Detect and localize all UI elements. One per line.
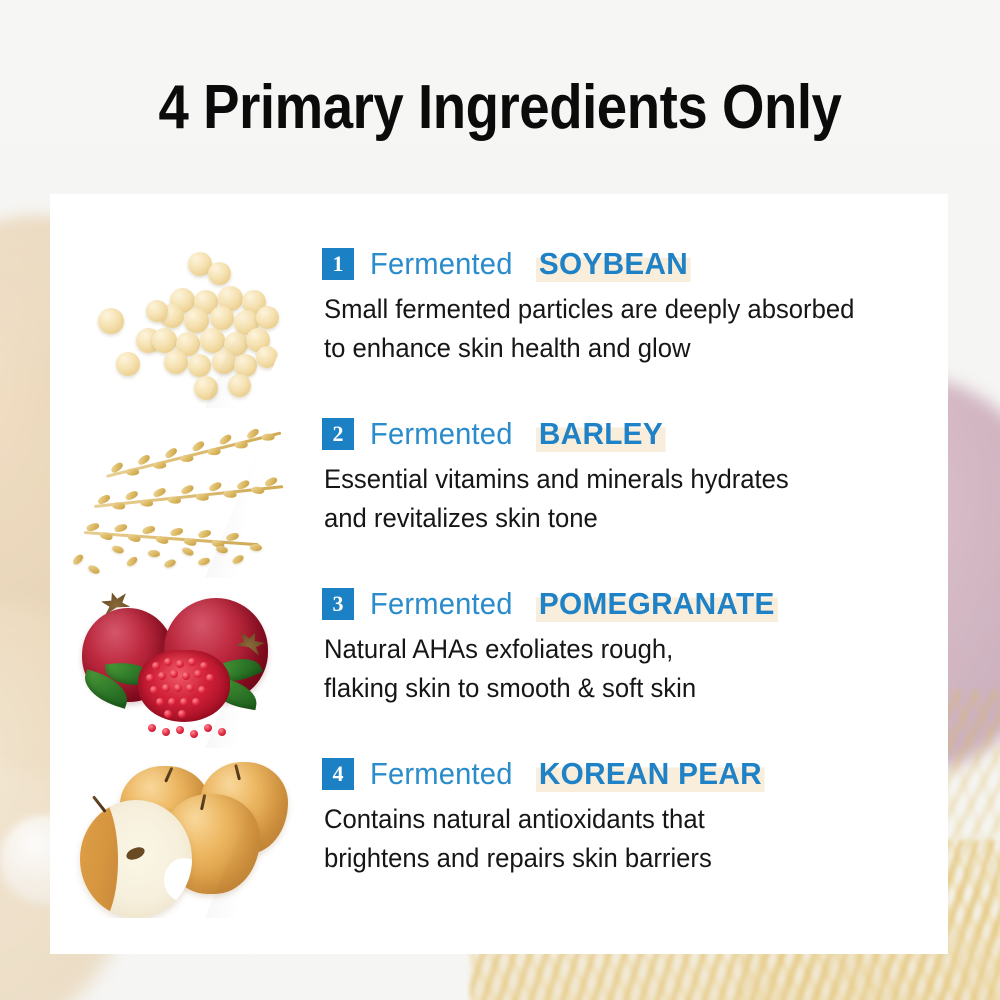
ingredient-heading: 2 Fermented BARLEY xyxy=(322,416,942,452)
ingredient-label: Fermented xyxy=(370,756,513,792)
ingredient-number-badge: 2 xyxy=(322,418,354,450)
ingredient-row: 4 Fermented KOREAN PEAR Contains natural… xyxy=(50,750,948,918)
soybeans-photo-inner xyxy=(60,240,325,408)
ingredient-name: KOREAN PEAR xyxy=(536,756,765,792)
ingredient-name: BARLEY xyxy=(536,416,666,452)
ingredients-infographic: 4 Primary Ingredients Only xyxy=(0,0,1000,1000)
ingredient-row: 1 Fermented SOYBEAN Small fermented part… xyxy=(50,240,948,408)
pomegranate-photo-inner xyxy=(60,580,325,748)
korean-pear-photo xyxy=(60,750,325,918)
ingredient-label: Fermented xyxy=(370,246,513,282)
ingredient-number-badge: 4 xyxy=(322,758,354,790)
barley-photo-inner xyxy=(60,410,325,578)
ingredient-description: Contains natural antioxidants that brigh… xyxy=(324,800,911,878)
page-title: 4 Primary Ingredients Only xyxy=(60,72,940,143)
ingredient-description: Natural AHAs exfoliates rough, flaking s… xyxy=(324,630,911,708)
ingredient-number-badge: 1 xyxy=(322,248,354,280)
barley-photo xyxy=(60,410,325,578)
soybeans-photo xyxy=(60,240,325,408)
ingredient-list: 1 Fermented SOYBEAN Small fermented part… xyxy=(50,194,948,954)
ingredient-heading: 3 Fermented POMEGRANATE xyxy=(322,586,942,622)
ingredient-heading: 4 Fermented KOREAN PEAR xyxy=(322,756,942,792)
ingredient-description: Essential vitamins and minerals hydrates… xyxy=(324,460,911,538)
ingredient-description: Small fermented particles are deeply abs… xyxy=(324,290,911,368)
ingredient-text: 2 Fermented BARLEY Essential vitamins an… xyxy=(322,416,942,538)
ingredient-name: POMEGRANATE xyxy=(536,586,778,622)
korean-pear-photo-inner xyxy=(60,750,325,918)
ingredient-text: 3 Fermented POMEGRANATE Natural AHAs exf… xyxy=(322,586,942,708)
ingredients-card: 1 Fermented SOYBEAN Small fermented part… xyxy=(50,194,948,954)
ingredient-name: SOYBEAN xyxy=(536,246,691,282)
ingredient-text: 1 Fermented SOYBEAN Small fermented part… xyxy=(322,246,942,368)
ingredient-heading: 1 Fermented SOYBEAN xyxy=(322,246,942,282)
pomegranate-photo xyxy=(60,580,325,748)
ingredient-number-badge: 3 xyxy=(322,588,354,620)
ingredient-text: 4 Fermented KOREAN PEAR Contains natural… xyxy=(322,756,942,878)
ingredient-label: Fermented xyxy=(370,416,513,452)
ingredient-row: 3 Fermented POMEGRANATE Natural AHAs exf… xyxy=(50,580,948,748)
ingredient-label: Fermented xyxy=(370,586,513,622)
ingredient-row: 2 Fermented BARLEY Essential vitamins an… xyxy=(50,410,948,578)
pear-core-notch xyxy=(164,858,192,902)
